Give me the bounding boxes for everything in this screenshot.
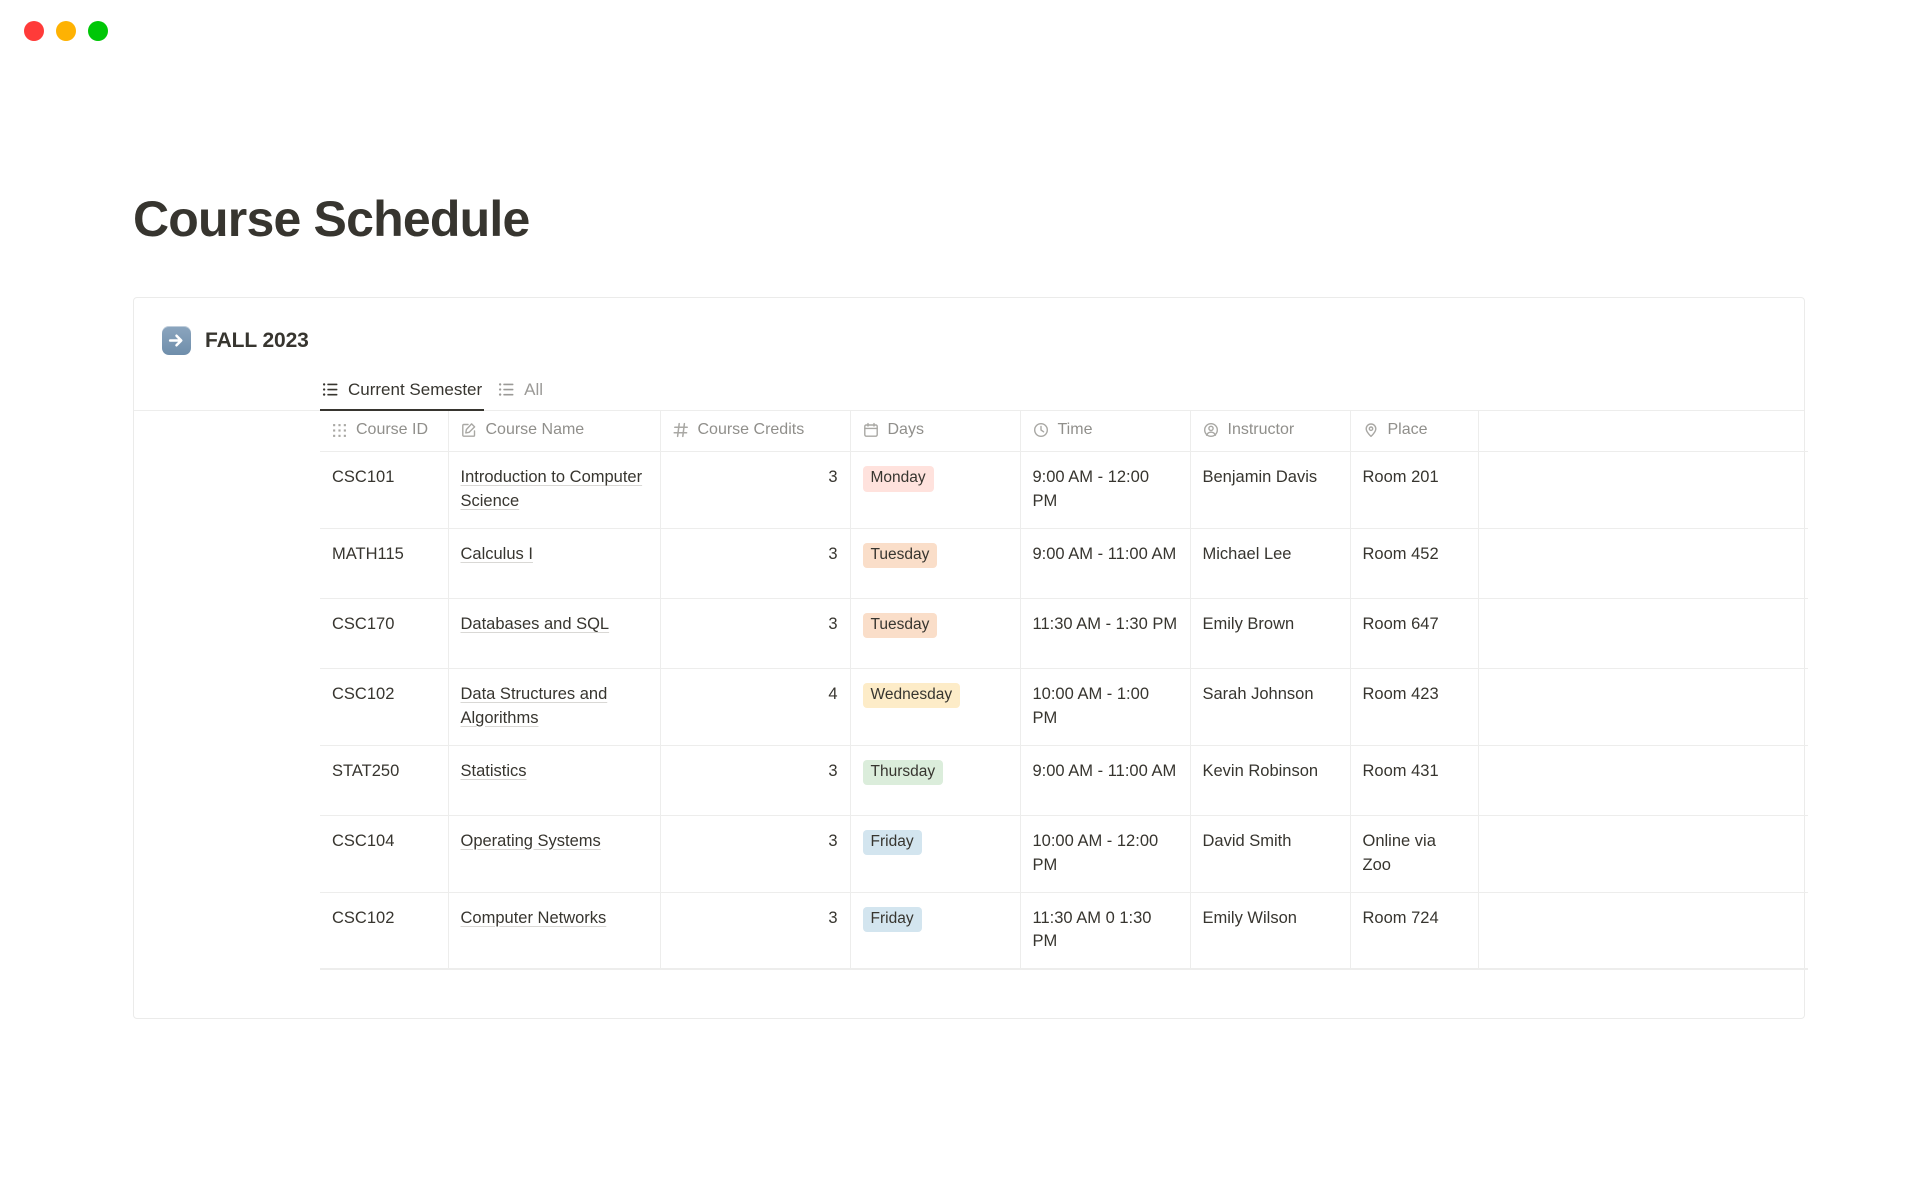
cell-course-name[interactable]: Calculus I [448,528,660,598]
database-title: FALL 2023 [205,329,309,353]
cell-days: Tuesday [850,528,1020,598]
cell-course-name[interactable]: Introduction to Computer Science [448,452,660,529]
cell-time: 9:00 AM - 12:00 PM [1020,452,1190,529]
cell-empty [1478,745,1808,815]
minimize-button[interactable] [56,21,76,41]
page-content: Course Schedule FALL 2023 [0,62,1920,1019]
cell-course-id: STAT250 [320,745,448,815]
day-badge: Friday [863,830,922,856]
maximize-button[interactable] [88,21,108,41]
cell-days: Monday [850,452,1020,529]
table-row[interactable]: CSC102Computer Networks3Friday11:30 AM 0… [320,892,1808,969]
cell-instructor: Kevin Robinson [1190,745,1350,815]
cell-days: Tuesday [850,598,1020,668]
schedule-table-wrapper: Course ID Cour [134,411,1804,970]
cell-days: Friday [850,815,1020,892]
cell-place: Room 647 [1350,598,1478,668]
column-header-label: Instructor [1228,421,1295,439]
arrow-right-emoji-icon [162,326,191,355]
table-row[interactable]: CSC104Operating Systems3Friday10:00 AM -… [320,815,1808,892]
calendar-icon [863,422,879,438]
cell-time: 10:00 AM - 12:00 PM [1020,815,1190,892]
column-header-time[interactable]: Time [1020,411,1190,452]
table-row[interactable]: CSC170Databases and SQL3Tuesday11:30 AM … [320,598,1808,668]
course-name-link[interactable]: Introduction to Computer Science [461,468,643,510]
column-header-days[interactable]: Days [850,411,1020,452]
day-badge: Wednesday [863,683,961,709]
user-circle-icon [1203,422,1219,438]
cell-place: Room 423 [1350,668,1478,745]
cell-time: 11:30 AM 0 1:30 PM [1020,892,1190,969]
cell-course-name[interactable]: Computer Networks [448,892,660,969]
cell-instructor: Sarah Johnson [1190,668,1350,745]
cell-instructor: Michael Lee [1190,528,1350,598]
cell-place: Room 201 [1350,452,1478,529]
schedule-table: Course ID Cour [320,411,1808,970]
cell-course-credits: 3 [660,892,850,969]
table-header: Course ID Cour [320,411,1808,452]
cell-place: Room 452 [1350,528,1478,598]
cell-course-id: CSC104 [320,815,448,892]
cell-empty [1478,452,1808,529]
cell-days: Thursday [850,745,1020,815]
map-pin-icon [1363,422,1379,438]
cell-empty [1478,668,1808,745]
cell-course-id: MATH115 [320,528,448,598]
course-name-link[interactable]: Calculus I [461,545,533,563]
clock-icon [1033,422,1049,438]
course-name-link[interactable]: Operating Systems [461,832,601,850]
cell-course-credits: 3 [660,452,850,529]
cell-course-name[interactable]: Data Structures and Algorithms [448,668,660,745]
cell-empty [1478,528,1808,598]
close-button[interactable] [24,21,44,41]
table-row[interactable]: CSC102Data Structures and Algorithms4Wed… [320,668,1808,745]
column-header-label: Course Name [486,421,585,439]
day-badge: Tuesday [863,613,938,639]
table-row[interactable]: STAT250Statistics3Thursday9:00 AM - 11:0… [320,745,1808,815]
cell-course-name[interactable]: Statistics [448,745,660,815]
database-header: FALL 2023 [134,326,1804,355]
cell-days: Wednesday [850,668,1020,745]
cell-empty [1478,598,1808,668]
column-header-course-id[interactable]: Course ID [320,411,448,452]
table-row[interactable]: CSC101Introduction to Computer Science3M… [320,452,1808,529]
view-tabs: Current Semester All [134,369,1804,411]
cell-course-credits: 3 [660,598,850,668]
column-header-empty[interactable] [1478,411,1808,452]
hash-icon [673,422,689,438]
cell-time: 11:30 AM - 1:30 PM [1020,598,1190,668]
day-badge: Monday [863,466,934,492]
column-header-course-name[interactable]: Course Name [448,411,660,452]
cell-time: 9:00 AM - 11:00 AM [1020,745,1190,815]
course-name-link[interactable]: Databases and SQL [461,615,610,633]
cell-time: 10:00 AM - 1:00 PM [1020,668,1190,745]
cell-course-name[interactable]: Databases and SQL [448,598,660,668]
edit-square-icon [461,422,477,438]
column-header-label: Time [1058,421,1093,439]
tab-all[interactable]: All [496,369,553,410]
cell-course-credits: 3 [660,815,850,892]
cell-empty [1478,892,1808,969]
tab-label: Current Semester [348,380,482,400]
window-titlebar [0,0,1920,62]
column-header-label: Course Credits [698,421,805,439]
list-view-icon [498,381,515,398]
tab-label: All [524,380,543,400]
cell-time: 9:00 AM - 11:00 AM [1020,528,1190,598]
day-badge: Thursday [863,760,944,786]
cell-instructor: David Smith [1190,815,1350,892]
table-row[interactable]: MATH115Calculus I3Tuesday9:00 AM - 11:00… [320,528,1808,598]
column-header-label: Days [888,421,924,439]
column-header-course-credits[interactable]: Course Credits [660,411,850,452]
tab-current-semester[interactable]: Current Semester [320,369,492,410]
column-header-place[interactable]: Place [1350,411,1478,452]
column-header-instructor[interactable]: Instructor [1190,411,1350,452]
cell-days: Friday [850,892,1020,969]
cell-course-name[interactable]: Operating Systems [448,815,660,892]
cell-course-id: CSC170 [320,598,448,668]
page-title: Course Schedule [133,192,1920,247]
column-header-label: Course ID [356,421,428,439]
cell-instructor: Benjamin Davis [1190,452,1350,529]
table-body: CSC101Introduction to Computer Science3M… [320,452,1808,970]
cell-instructor: Emily Brown [1190,598,1350,668]
day-badge: Tuesday [863,543,938,569]
cell-course-credits: 3 [660,745,850,815]
cell-instructor: Emily Wilson [1190,892,1350,969]
cell-place: Online via Zoo [1350,815,1478,892]
cell-empty [1478,815,1808,892]
cell-course-credits: 4 [660,668,850,745]
cell-place: Room 431 [1350,745,1478,815]
cell-course-credits: 3 [660,528,850,598]
cell-place: Room 724 [1350,892,1478,969]
table-header-row: Course ID Cour [320,411,1808,452]
day-badge: Friday [863,907,922,933]
column-header-label: Place [1388,421,1428,439]
list-view-icon [322,381,339,398]
grid-dots-icon [332,423,347,438]
course-name-link[interactable]: Computer Networks [461,909,607,927]
cell-course-id: CSC102 [320,668,448,745]
cell-course-id: CSC102 [320,892,448,969]
database-card: FALL 2023 Current Semester [133,297,1805,1019]
course-name-link[interactable]: Data Structures and Algorithms [461,685,608,727]
course-name-link[interactable]: Statistics [461,762,527,780]
cell-course-id: CSC101 [320,452,448,529]
